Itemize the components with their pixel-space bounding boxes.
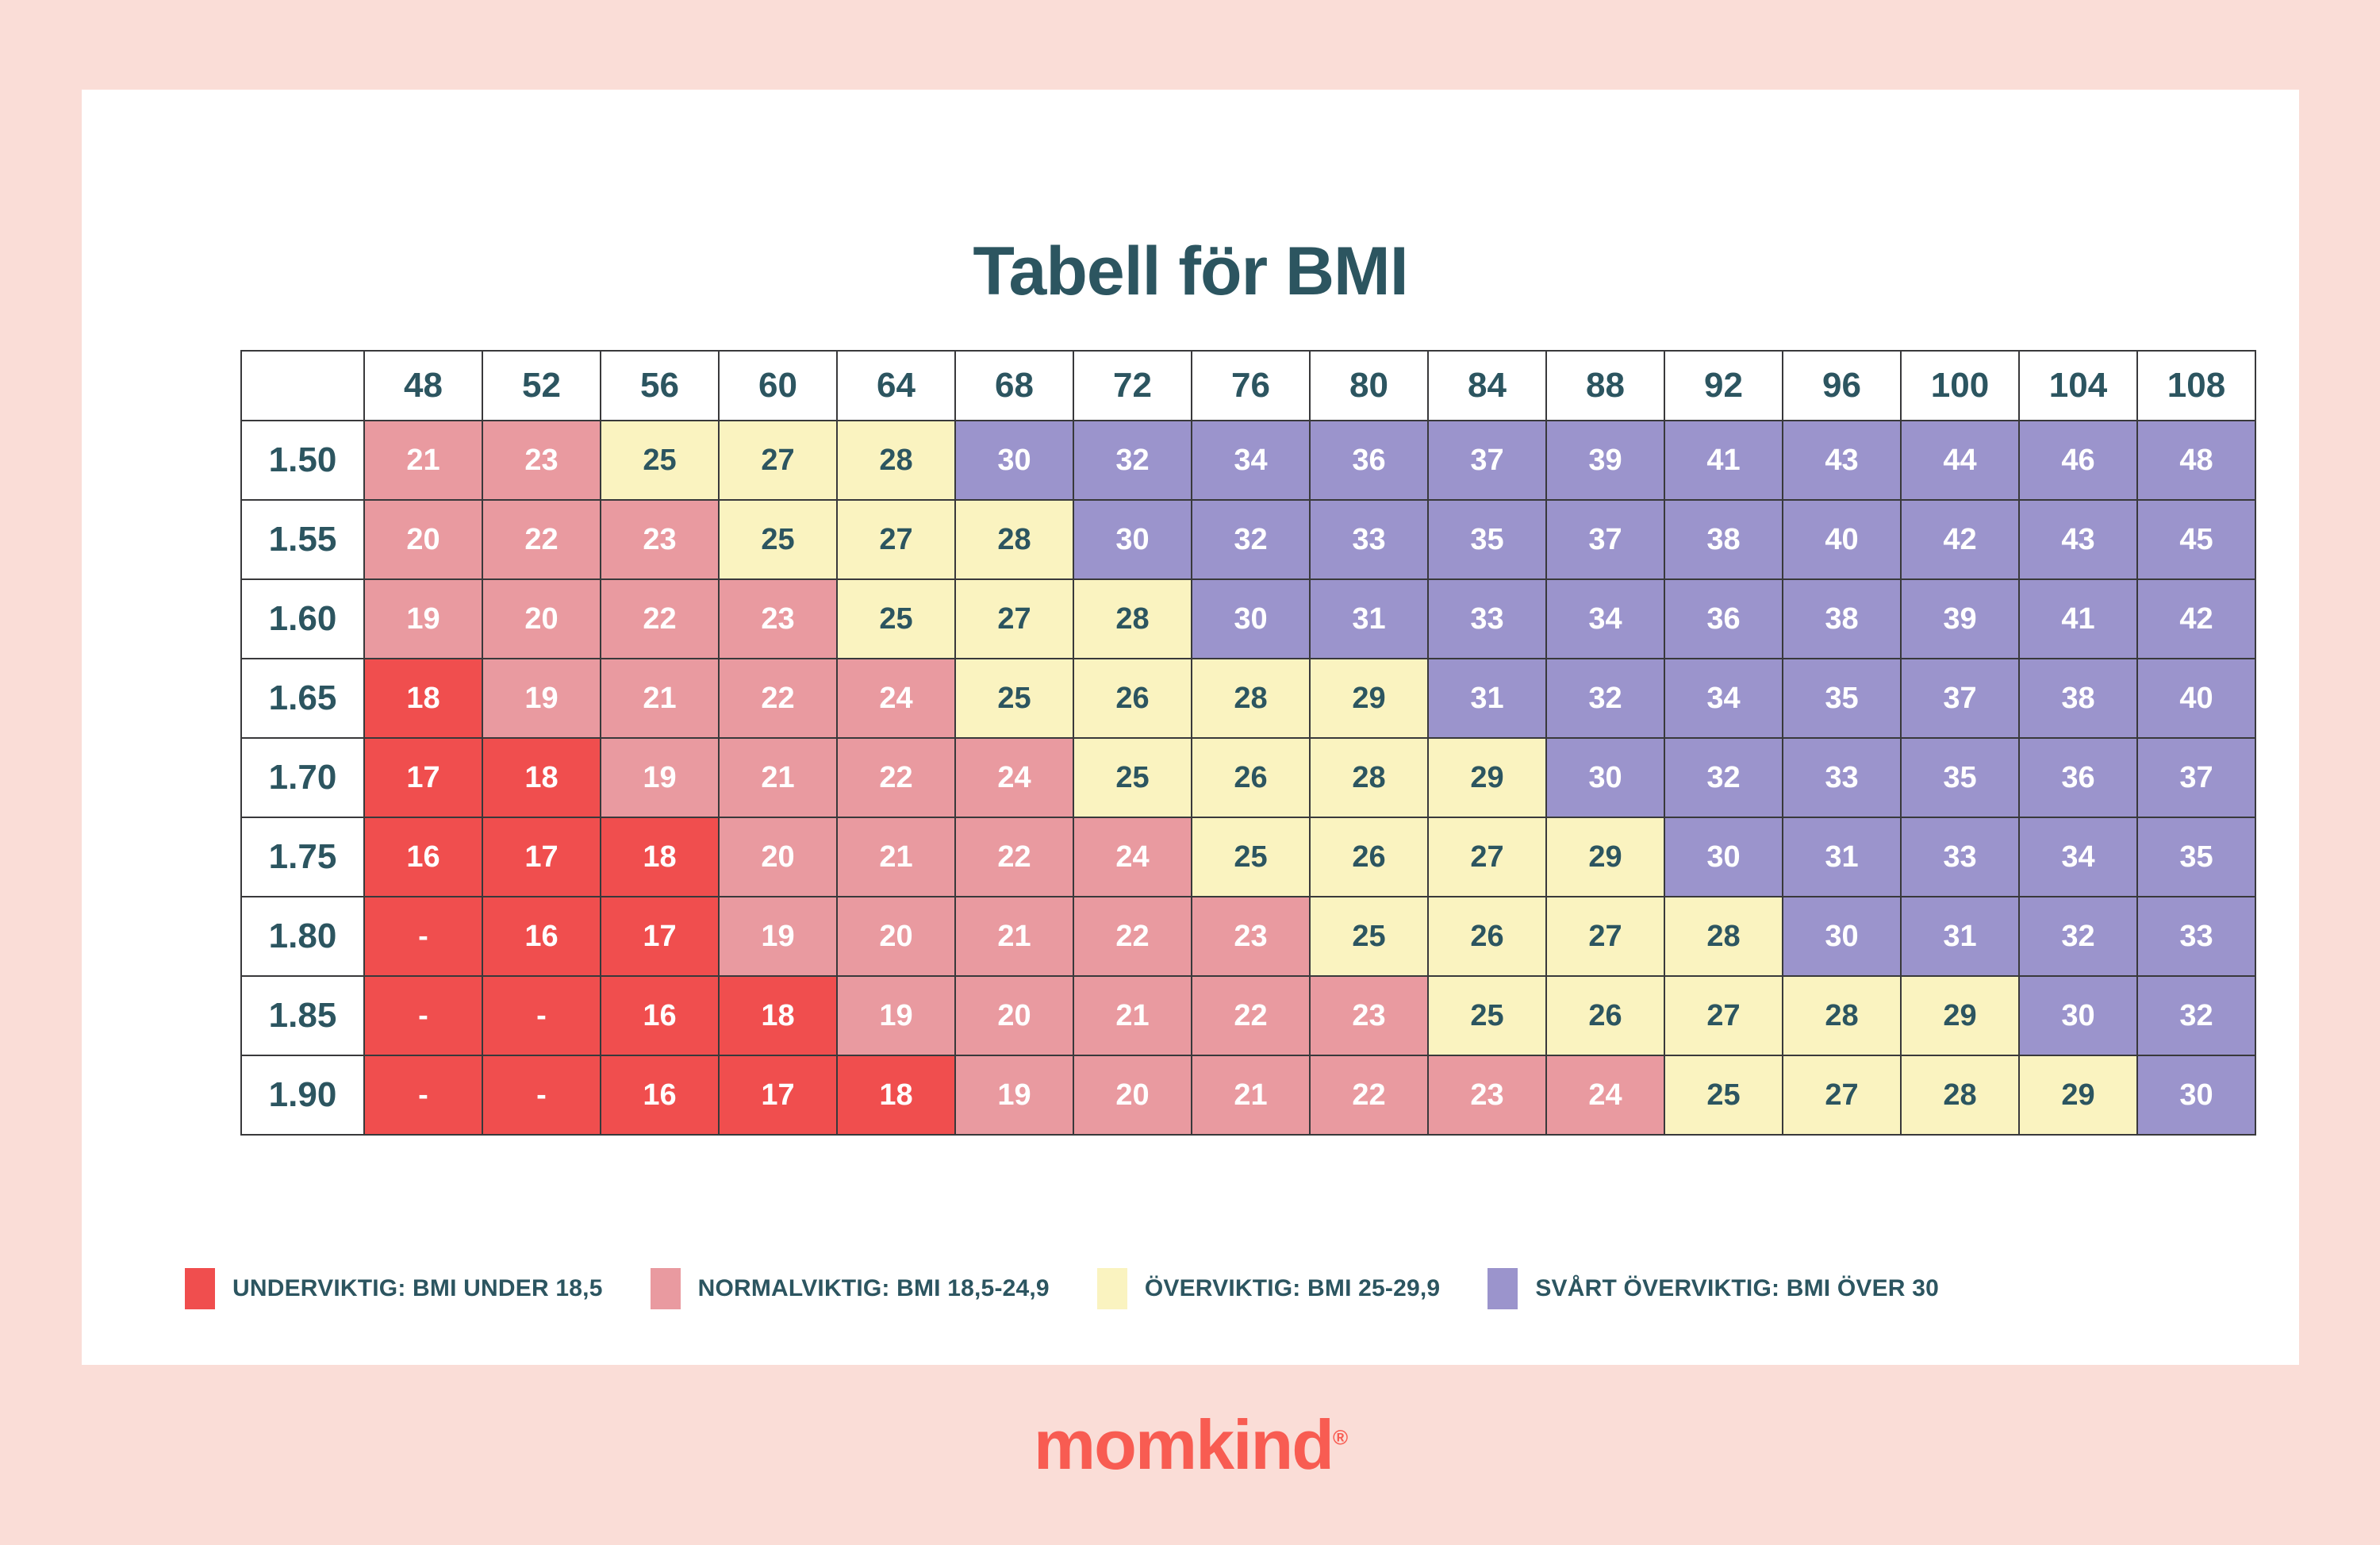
weight-header-84: 84 (1428, 351, 1546, 421)
bmi-cell: 24 (1073, 817, 1192, 897)
bmi-cell: 19 (837, 976, 955, 1055)
bmi-cell: 37 (1428, 421, 1546, 500)
bmi-cell: 33 (2137, 897, 2255, 976)
bmi-cell: 39 (1901, 579, 2019, 659)
legend-label-over: ÖVERVIKTIG: BMI 25-29,9 (1145, 1275, 1440, 1302)
bmi-cell: 42 (1901, 500, 2019, 579)
height-header-1.90: 1.90 (241, 1055, 364, 1135)
bmi-cell: 31 (1901, 897, 2019, 976)
table-row: 1.5520222325272830323335373840424345 (241, 500, 2255, 579)
bmi-cell: 33 (1310, 500, 1428, 579)
height-header-1.70: 1.70 (241, 738, 364, 817)
bmi-cell: 27 (837, 500, 955, 579)
bmi-cell: 48 (2137, 421, 2255, 500)
bmi-cell: 36 (2019, 738, 2137, 817)
table-row: 1.85--1618192021222325262728293032 (241, 976, 2255, 1055)
bmi-cell: 25 (1428, 976, 1546, 1055)
bmi-cell: 20 (837, 897, 955, 976)
table-row: 1.7017181921222425262829303233353637 (241, 738, 2255, 817)
brand-logo-text: momkind® (1034, 1405, 1346, 1485)
bmi-cell: 21 (1073, 976, 1192, 1055)
bmi-cell: 35 (2137, 817, 2255, 897)
bmi-cell: 42 (2137, 579, 2255, 659)
bmi-cell: 27 (719, 421, 837, 500)
bmi-cell: 33 (1428, 579, 1546, 659)
bmi-cell: 25 (837, 579, 955, 659)
bmi-cell: 22 (1310, 1055, 1428, 1135)
bmi-cell: 28 (1310, 738, 1428, 817)
bmi-cell: 37 (2137, 738, 2255, 817)
table-header-row: 48525660646872768084889296100104108 (241, 351, 2255, 421)
bmi-cell: 25 (601, 421, 719, 500)
bmi-cell: 30 (1073, 500, 1192, 579)
legend-item-obese: SVÅRT ÖVERVIKTIG: BMI ÖVER 30 (1487, 1268, 1939, 1309)
bmi-cell: 31 (1783, 817, 1901, 897)
bmi-cell: 28 (955, 500, 1073, 579)
weight-header-104: 104 (2019, 351, 2137, 421)
table-row: 1.6518192122242526282931323435373840 (241, 659, 2255, 738)
bmi-cell: 28 (1192, 659, 1310, 738)
bmi-cell: 25 (1073, 738, 1192, 817)
legend-item-normal: NORMALVIKTIG: BMI 18,5-24,9 (651, 1268, 1050, 1309)
bmi-cell: 38 (1664, 500, 1783, 579)
bmi-cell: 20 (482, 579, 601, 659)
bmi-cell: - (364, 1055, 482, 1135)
bmi-cell: 29 (1546, 817, 1664, 897)
bmi-cell: 16 (601, 976, 719, 1055)
bmi-cell: 26 (1073, 659, 1192, 738)
bmi-cell: 22 (837, 738, 955, 817)
height-header-1.55: 1.55 (241, 500, 364, 579)
bmi-cell: 28 (1664, 897, 1783, 976)
bmi-cell: 35 (1783, 659, 1901, 738)
height-header-1.80: 1.80 (241, 897, 364, 976)
weight-header-96: 96 (1783, 351, 1901, 421)
bmi-cell: 21 (601, 659, 719, 738)
weight-header-92: 92 (1664, 351, 1783, 421)
bmi-cell: 30 (2137, 1055, 2255, 1135)
bmi-cell: 20 (719, 817, 837, 897)
bmi-cell: 23 (719, 579, 837, 659)
height-header-1.50: 1.50 (241, 421, 364, 500)
bmi-cell: 30 (1783, 897, 1901, 976)
bmi-cell: 22 (1192, 976, 1310, 1055)
bmi-cell: 36 (1664, 579, 1783, 659)
bmi-cell: 25 (719, 500, 837, 579)
height-header-1.65: 1.65 (241, 659, 364, 738)
legend-label-obese: SVÅRT ÖVERVIKTIG: BMI ÖVER 30 (1535, 1275, 1939, 1302)
bmi-cell: 20 (1073, 1055, 1192, 1135)
bmi-cell: 23 (1428, 1055, 1546, 1135)
bmi-infographic-page: Tabell för BMI VIKT (KG) LÄNGD (M) 48525… (0, 0, 2380, 1545)
legend-item-under: UNDERVIKTIG: BMI UNDER 18,5 (185, 1268, 603, 1309)
bmi-cell: 27 (1783, 1055, 1901, 1135)
bmi-cell: 24 (955, 738, 1073, 817)
bmi-cell: 26 (1192, 738, 1310, 817)
bmi-cell: 22 (955, 817, 1073, 897)
height-header-1.85: 1.85 (241, 976, 364, 1055)
table-row: 1.5021232527283032343637394143444648 (241, 421, 2255, 500)
registered-trademark-icon: ® (1333, 1426, 1346, 1450)
bmi-cell: 22 (601, 579, 719, 659)
weight-header-68: 68 (955, 351, 1073, 421)
bmi-cell: 19 (601, 738, 719, 817)
weight-header-72: 72 (1073, 351, 1192, 421)
weight-header-108: 108 (2137, 351, 2255, 421)
bmi-cell: 18 (601, 817, 719, 897)
legend-swatch-over (1097, 1268, 1127, 1309)
bmi-cell: 44 (1901, 421, 2019, 500)
weight-header-60: 60 (719, 351, 837, 421)
bmi-cell: 33 (1783, 738, 1901, 817)
bmi-cell: 34 (2019, 817, 2137, 897)
bmi-cell: 29 (1310, 659, 1428, 738)
bmi-cell: 22 (482, 500, 601, 579)
weight-header-48: 48 (364, 351, 482, 421)
bmi-cell: 27 (1664, 976, 1783, 1055)
bmi-cell: 19 (719, 897, 837, 976)
legend-swatch-under (185, 1268, 215, 1309)
bmi-cell: 34 (1192, 421, 1310, 500)
bmi-cell: 26 (1310, 817, 1428, 897)
bmi-cell: 18 (719, 976, 837, 1055)
legend-label-under: UNDERVIKTIG: BMI UNDER 18,5 (232, 1275, 603, 1302)
bmi-cell: 32 (1073, 421, 1192, 500)
bmi-table-wrapper: 48525660646872768084889296100104108 1.50… (240, 350, 2255, 1136)
bmi-cell: 25 (955, 659, 1073, 738)
page-title: Tabell för BMI (82, 233, 2299, 311)
bmi-cell: 35 (1428, 500, 1546, 579)
weight-header-76: 76 (1192, 351, 1310, 421)
legend-swatch-normal (651, 1268, 681, 1309)
bmi-cell: 16 (482, 897, 601, 976)
bmi-cell: 40 (2137, 659, 2255, 738)
bmi-cell: 25 (1664, 1055, 1783, 1135)
bmi-cell: 37 (1546, 500, 1664, 579)
bmi-cell: 46 (2019, 421, 2137, 500)
bmi-cell: 22 (719, 659, 837, 738)
table-row: 1.90--1617181920212223242527282930 (241, 1055, 2255, 1135)
bmi-cell: 22 (1073, 897, 1192, 976)
bmi-cell: 32 (1192, 500, 1310, 579)
white-card: Tabell för BMI VIKT (KG) LÄNGD (M) 48525… (82, 90, 2299, 1365)
bmi-cell: 40 (1783, 500, 1901, 579)
bmi-cell: 34 (1546, 579, 1664, 659)
bmi-cell: 24 (1546, 1055, 1664, 1135)
bmi-cell: 21 (1192, 1055, 1310, 1135)
bmi-cell: 31 (1310, 579, 1428, 659)
bmi-cell: 24 (837, 659, 955, 738)
bmi-table: 48525660646872768084889296100104108 1.50… (240, 350, 2256, 1136)
bmi-cell: 30 (1664, 817, 1783, 897)
bmi-cell: 30 (2019, 976, 2137, 1055)
height-header-1.75: 1.75 (241, 817, 364, 897)
bmi-cell: 16 (601, 1055, 719, 1135)
legend: UNDERVIKTIG: BMI UNDER 18,5NORMALVIKTIG:… (185, 1268, 2200, 1309)
bmi-cell: 17 (719, 1055, 837, 1135)
legend-label-normal: NORMALVIKTIG: BMI 18,5-24,9 (698, 1275, 1050, 1302)
bmi-cell: 37 (1901, 659, 2019, 738)
bmi-cell: 23 (601, 500, 719, 579)
bmi-cell: 30 (955, 421, 1073, 500)
weight-header-88: 88 (1546, 351, 1664, 421)
bmi-cell: 26 (1428, 897, 1546, 976)
brand-name: momkind (1034, 1405, 1333, 1484)
table-row: 1.6019202223252728303133343638394142 (241, 579, 2255, 659)
bmi-cell: 28 (1901, 1055, 2019, 1135)
bmi-cell: 33 (1901, 817, 2019, 897)
legend-item-over: ÖVERVIKTIG: BMI 25-29,9 (1097, 1268, 1440, 1309)
bmi-cell: 43 (2019, 500, 2137, 579)
weight-header-100: 100 (1901, 351, 2019, 421)
bmi-cell: 18 (482, 738, 601, 817)
bmi-cell: 32 (1664, 738, 1783, 817)
bmi-cell: 28 (1073, 579, 1192, 659)
bmi-cell: 30 (1192, 579, 1310, 659)
bmi-cell: - (482, 976, 601, 1055)
bmi-cell: 21 (837, 817, 955, 897)
weight-header-56: 56 (601, 351, 719, 421)
bmi-cell: 18 (364, 659, 482, 738)
table-row: 1.80-161719202122232526272830313233 (241, 897, 2255, 976)
bmi-cell: 17 (364, 738, 482, 817)
bmi-cell: 17 (482, 817, 601, 897)
bmi-cell: 28 (1783, 976, 1901, 1055)
bmi-cell: 27 (1428, 817, 1546, 897)
bmi-cell: 43 (1783, 421, 1901, 500)
bmi-cell: 19 (364, 579, 482, 659)
height-header-1.60: 1.60 (241, 579, 364, 659)
bmi-cell: 38 (2019, 659, 2137, 738)
bmi-cell: 30 (1546, 738, 1664, 817)
bmi-cell: - (482, 1055, 601, 1135)
bmi-cell: 25 (1310, 897, 1428, 976)
bmi-cell: 21 (364, 421, 482, 500)
bmi-cell: 26 (1546, 976, 1664, 1055)
bmi-cell: 21 (955, 897, 1073, 976)
bmi-cell: 41 (2019, 579, 2137, 659)
bmi-cell: - (364, 976, 482, 1055)
bmi-cell: 27 (955, 579, 1073, 659)
bmi-cell: 29 (2019, 1055, 2137, 1135)
bmi-cell: 38 (1783, 579, 1901, 659)
bmi-cell: 32 (2137, 976, 2255, 1055)
bmi-cell: 20 (955, 976, 1073, 1055)
table-head: 48525660646872768084889296100104108 (241, 351, 2255, 421)
bmi-cell: 27 (1546, 897, 1664, 976)
corner-cell (241, 351, 364, 421)
bmi-cell: 29 (1901, 976, 2019, 1055)
bmi-cell: 25 (1192, 817, 1310, 897)
bmi-cell: 16 (364, 817, 482, 897)
bmi-cell: 17 (601, 897, 719, 976)
table-body: 1.50212325272830323436373941434446481.55… (241, 421, 2255, 1135)
bmi-cell: 34 (1664, 659, 1783, 738)
weight-header-80: 80 (1310, 351, 1428, 421)
bmi-cell: 35 (1901, 738, 2019, 817)
table-row: 1.7516171820212224252627293031333435 (241, 817, 2255, 897)
bmi-cell: 19 (482, 659, 601, 738)
bmi-cell: 32 (1546, 659, 1664, 738)
footer-logo: momkind® (0, 1405, 2380, 1485)
bmi-cell: 19 (955, 1055, 1073, 1135)
bmi-cell: 32 (2019, 897, 2137, 976)
bmi-cell: 36 (1310, 421, 1428, 500)
bmi-cell: 20 (364, 500, 482, 579)
bmi-cell: 23 (1192, 897, 1310, 976)
weight-header-52: 52 (482, 351, 601, 421)
bmi-cell: 29 (1428, 738, 1546, 817)
bmi-cell: 23 (482, 421, 601, 500)
bmi-cell: 31 (1428, 659, 1546, 738)
legend-swatch-obese (1487, 1268, 1518, 1309)
bmi-cell: 18 (837, 1055, 955, 1135)
bmi-cell: - (364, 897, 482, 976)
bmi-cell: 28 (837, 421, 955, 500)
bmi-cell: 39 (1546, 421, 1664, 500)
bmi-cell: 21 (719, 738, 837, 817)
bmi-cell: 23 (1310, 976, 1428, 1055)
bmi-cell: 45 (2137, 500, 2255, 579)
bmi-cell: 41 (1664, 421, 1783, 500)
weight-header-64: 64 (837, 351, 955, 421)
